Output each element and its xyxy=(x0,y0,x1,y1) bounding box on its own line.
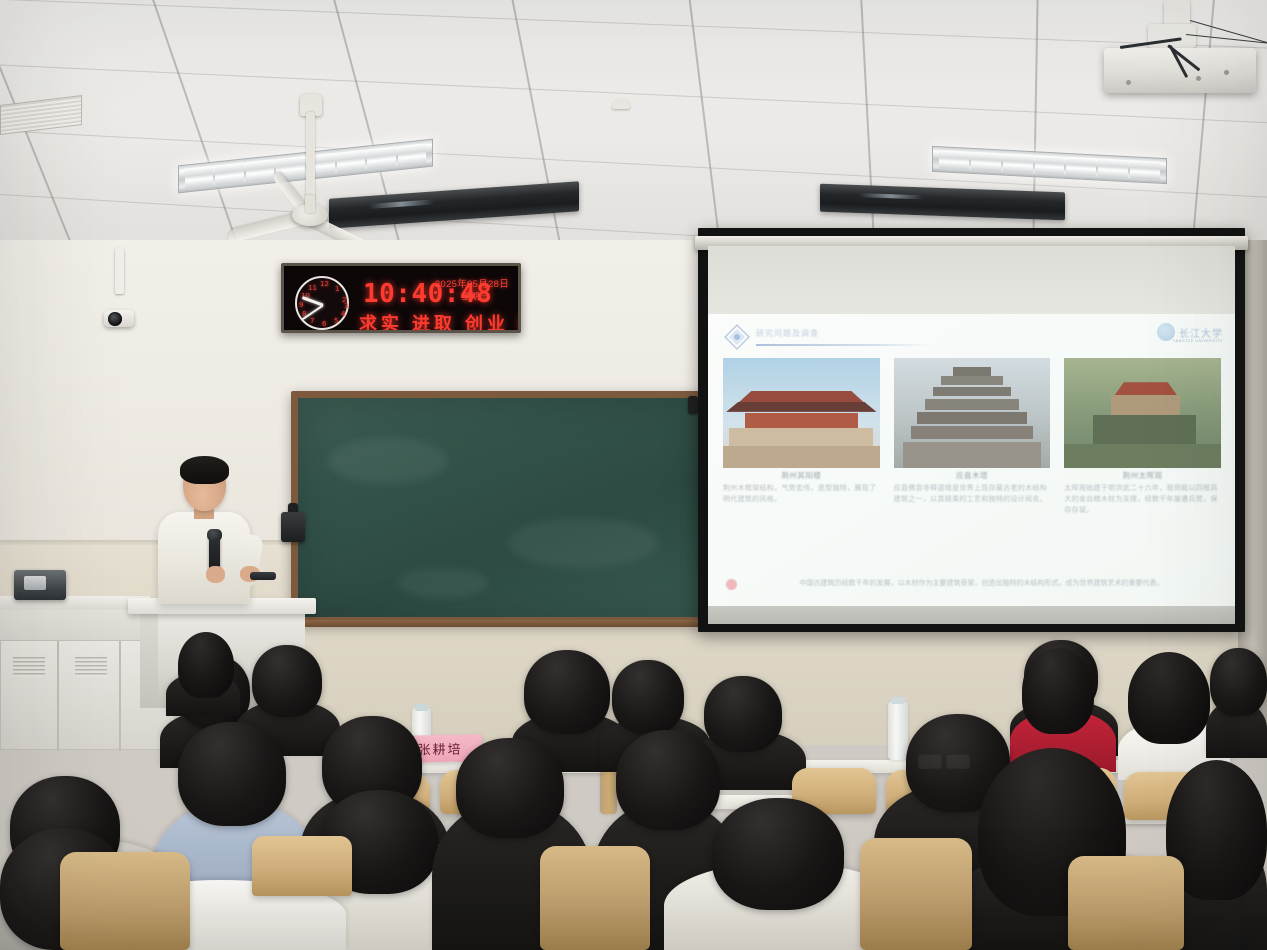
led-motto-display: 求实 进取 创业 报国 xyxy=(359,310,521,333)
audience-chair xyxy=(60,852,190,950)
slide-caption-3: 荆州太晖观 xyxy=(1064,470,1221,481)
person-head xyxy=(712,798,844,910)
slide-image-row xyxy=(723,358,1221,468)
camera-mount-arm xyxy=(115,248,124,294)
footer-bullet-icon xyxy=(726,579,737,590)
lecture-hall-scene: 12 1 2 3 4 5 6 7 8 9 10 11 10:40:48 2025… xyxy=(0,0,1267,950)
led-clock-board: 12 1 2 3 4 5 6 7 8 9 10 11 10:40:48 2025… xyxy=(281,263,521,333)
person-head xyxy=(178,722,286,826)
bottle-cap xyxy=(415,704,428,711)
screen-blank-area-top xyxy=(708,246,1235,314)
presenter-hair xyxy=(180,456,229,484)
slide-body-3: 太晖观始建于明洪武二十六年，祖师殿以四根高大的金丝楠木柱为支撑，经数千年屡遭兵燹… xyxy=(1064,484,1221,517)
name-card-text: 张耕培 xyxy=(417,739,462,759)
clock-numeral: 5 xyxy=(334,318,338,325)
clock-numeral: 1 xyxy=(335,286,339,293)
clock-numeral: 12 xyxy=(320,281,329,288)
wall-speaker xyxy=(281,512,305,542)
bottle-cap xyxy=(891,697,905,704)
slide-image-3 xyxy=(1064,358,1221,468)
slide-body-row: 荆州木框架结构，气势宏伟，造型独特，展现了明代建筑的风格。 应县佛宫寺释迦塔是世… xyxy=(723,484,1221,517)
eyeglasses-icon xyxy=(918,754,942,769)
chalkboard-clip xyxy=(688,396,698,414)
slide-image-2 xyxy=(894,358,1051,468)
slide-caption-row: 荆州其阳楼 应县木塔 荆州太晖观 xyxy=(723,470,1221,481)
projection-screen: 研究问题及调查 长江大学 YANGTZE UNIVERSITY xyxy=(708,246,1235,624)
screen-blank-area-bottom xyxy=(708,606,1235,624)
presenter-hand-left xyxy=(206,566,225,583)
fan-collar xyxy=(305,195,315,213)
diamond-emblem-icon xyxy=(724,324,750,350)
university-logo-text: 长江大学 xyxy=(1179,325,1223,340)
microphone-head-icon xyxy=(207,529,222,541)
led-weekday-display: 星期三 xyxy=(461,290,490,302)
clock-numeral: 3 xyxy=(344,303,348,310)
lectern-side-panel xyxy=(140,612,158,708)
slide-footer: 中国古建筑历经数千年的发展，以木材作为主要建筑骨架，创造出独特的木结构形式，成为… xyxy=(726,578,1220,590)
person-head xyxy=(616,730,720,830)
ceiling-tile-grid xyxy=(0,0,1267,248)
clock-numeral: 9 xyxy=(299,302,303,309)
fan-downrod xyxy=(306,112,315,200)
projector-mount-plate xyxy=(1148,24,1196,48)
water-bottle xyxy=(888,702,908,760)
camera-lens-icon xyxy=(108,312,122,326)
clock-numeral: 6 xyxy=(322,321,326,328)
slide-body-1: 荆州木框架结构，气势宏伟，造型独特，展现了明代建筑的风格。 xyxy=(723,484,880,517)
audience-chair xyxy=(860,838,972,950)
slide-footer-text: 中国古建筑历经数千年的发展，以木材作为主要建筑骨架，创造出独特的木结构形式，成为… xyxy=(743,578,1220,589)
green-chalkboard xyxy=(291,391,708,624)
clock-numeral: 11 xyxy=(308,285,317,292)
slide-caption-1: 荆州其阳楼 xyxy=(723,470,880,481)
clock-numeral: 7 xyxy=(310,318,314,325)
person-head xyxy=(524,650,610,734)
audience-chair xyxy=(540,846,650,950)
person-head xyxy=(252,645,322,717)
led-date-display: 2025年05月28日 xyxy=(435,276,509,290)
person-head-long-hair xyxy=(1128,652,1210,744)
slide-header-title: 研究问题及调查 xyxy=(756,328,819,339)
person-head-long-hair xyxy=(178,632,234,698)
person-head-long-hair xyxy=(1022,648,1094,734)
clock-numeral: 4 xyxy=(341,311,345,318)
presentation-slide: 研究问题及调查 长江大学 YANGTZE UNIVERSITY xyxy=(708,314,1235,606)
audience-chair xyxy=(1068,856,1184,950)
smoke-detector-icon xyxy=(612,100,630,109)
ceiling xyxy=(0,0,1267,248)
slide-image-1 xyxy=(723,358,880,468)
person-head xyxy=(1210,648,1267,716)
person-head xyxy=(704,676,782,752)
slide-caption-2: 应县木塔 xyxy=(894,470,1051,481)
slide-body-2: 应县佛宫寺释迦塔是世界上现存最古老的木结构建筑之一，以其精美的工艺和独特的设计闻… xyxy=(894,484,1051,517)
presentation-clicker xyxy=(250,572,276,580)
university-logo-subtitle: YANGTZE UNIVERSITY xyxy=(1173,339,1223,343)
person-head xyxy=(612,660,684,734)
analog-clock-face: 12 1 2 3 4 5 6 7 8 9 10 11 xyxy=(295,276,349,330)
eyeglasses-icon xyxy=(946,754,970,769)
av-equipment-panel xyxy=(24,576,46,590)
beverage-bottle xyxy=(600,770,617,814)
slide-header-rule xyxy=(756,344,931,346)
chalk-tray xyxy=(286,620,713,627)
person-head xyxy=(456,738,564,838)
audience-chair xyxy=(252,836,352,896)
